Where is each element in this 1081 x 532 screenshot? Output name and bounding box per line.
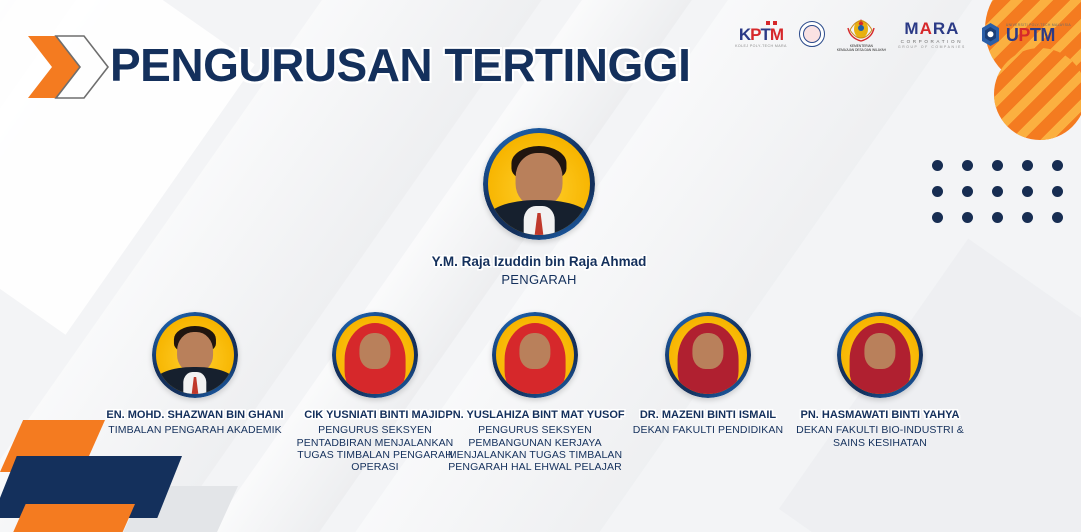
person-illustration (156, 316, 234, 394)
member-name: DR. MAZENI BINTI ISMAIL (613, 409, 803, 421)
member-role: DEKAN FAKULTI BIO-INDUSTRI & SAINS KESIH… (785, 424, 975, 449)
portrait-inner (496, 316, 574, 394)
portrait-member-2 (332, 312, 418, 398)
member-role: TIMBALAN PENGARAH AKADEMIK (100, 424, 290, 436)
member-name: Y.M. Raja Izuddin bin Raja Ahmad (389, 254, 689, 269)
member-name: PN. HASMAWATI BINTI YAHYA (785, 409, 975, 421)
person-illustration (488, 133, 590, 235)
org-node-director[interactable]: Y.M. Raja Izuddin bin Raja Ahmad PENGARA… (389, 128, 689, 287)
person-illustration (496, 316, 574, 394)
portrait-member-5 (837, 312, 923, 398)
portrait-inner (488, 133, 590, 235)
portrait-inner (669, 316, 747, 394)
portrait-director (483, 128, 595, 240)
portrait-inner (841, 316, 919, 394)
portrait-inner (156, 316, 234, 394)
org-node-member-4[interactable]: DR. MAZENI BINTI ISMAIL DEKAN FAKULTI PE… (613, 312, 803, 437)
person-illustration (669, 316, 747, 394)
portrait-member-1 (152, 312, 238, 398)
org-node-member-3[interactable]: PN. YUSLAHIZA BINT MAT YUSOF PENGURUS SE… (440, 312, 630, 474)
org-node-member-1[interactable]: EN. MOHD. SHAZWAN BIN GHANI TIMBALAN PEN… (100, 312, 290, 437)
member-name: PN. YUSLAHIZA BINT MAT YUSOF (440, 409, 630, 421)
member-name: EN. MOHD. SHAZWAN BIN GHANI (100, 409, 290, 421)
member-role: PENGURUS SEKSYEN PEMBANGUNAN KERJAYA MEN… (440, 424, 630, 474)
portrait-member-3 (492, 312, 578, 398)
member-role: DEKAN FAKULTI PENDIDIKAN (613, 424, 803, 436)
person-illustration (336, 316, 414, 394)
person-illustration (841, 316, 919, 394)
portrait-member-4 (665, 312, 751, 398)
org-chart: Y.M. Raja Izuddin bin Raja Ahmad PENGARA… (0, 0, 1081, 532)
portrait-inner (336, 316, 414, 394)
member-role: PENGARAH (389, 272, 689, 287)
org-node-member-5[interactable]: PN. HASMAWATI BINTI YAHYA DEKAN FAKULTI … (785, 312, 975, 449)
